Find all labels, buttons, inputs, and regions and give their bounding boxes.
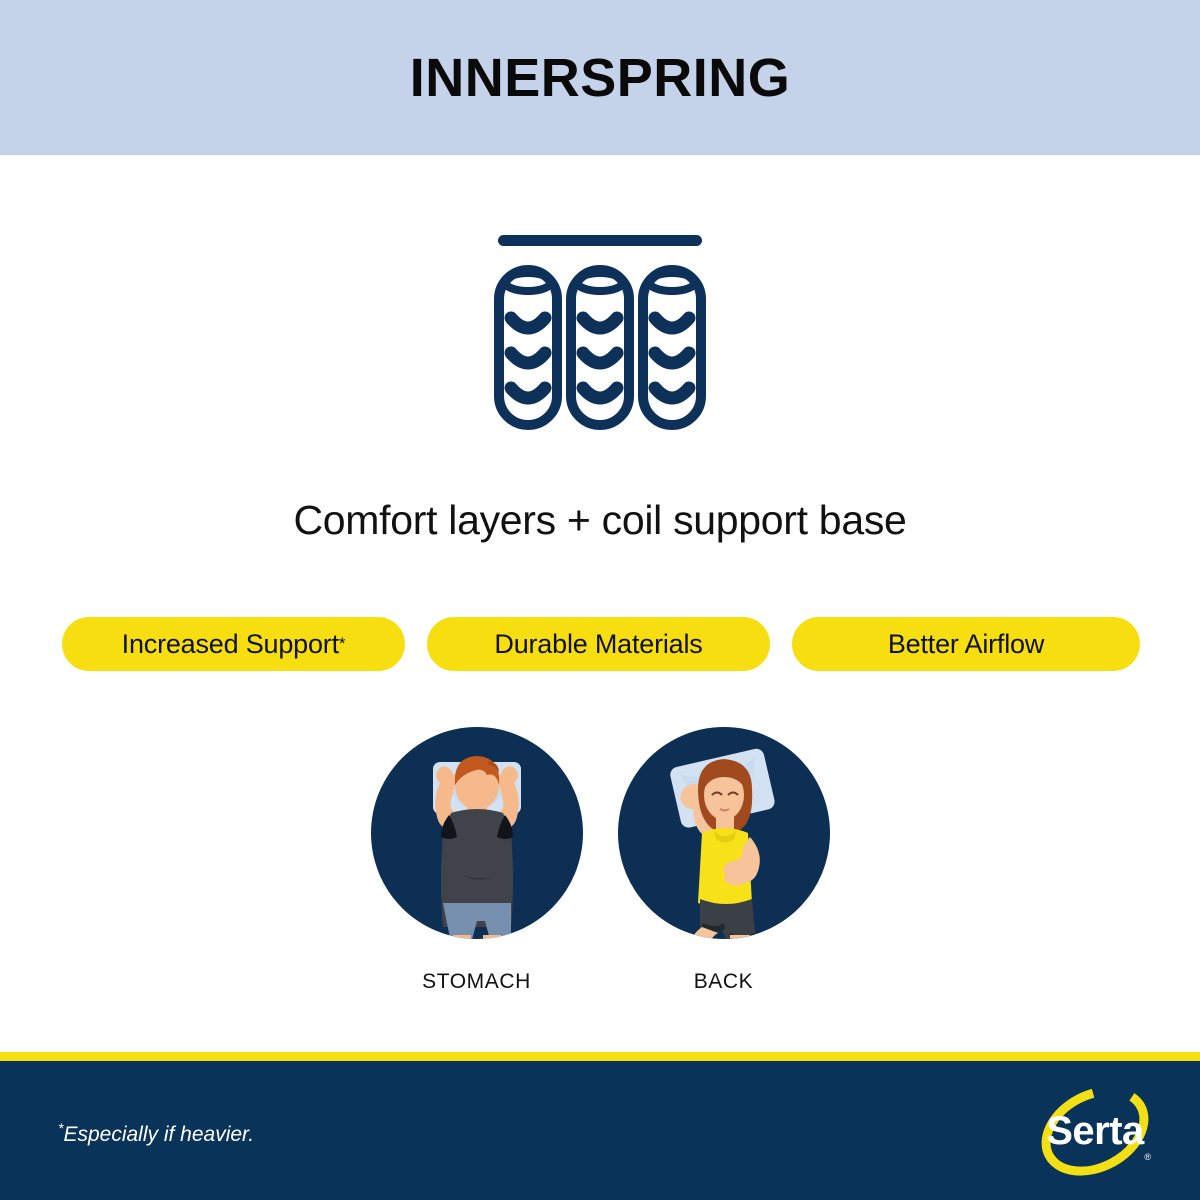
coil-top-bar [498,235,702,246]
sleep-position-circle-back [618,727,830,939]
person-sleeping-stomach-icon [371,727,583,939]
sleep-position-card-back[interactable]: BACK [618,727,830,994]
coil-cylinder-2 [571,270,629,425]
sleep-position-label-back: BACK [694,970,754,994]
coil-cylinder-1 [499,270,557,425]
footnote-label: Especially if heavier. [63,1123,254,1146]
footer: *Especially if heavier. Serta ® [0,1061,1200,1200]
person-sleeping-back-icon [618,727,830,939]
serta-logo[interactable]: Serta ® [1032,1083,1158,1179]
feature-pill-better-airflow[interactable]: Better Airflow [792,617,1140,671]
registered-trademark-icon: ® [1144,1152,1151,1162]
feature-pill-label: Increased Support [122,629,339,660]
feature-pill-increased-support[interactable]: Increased Support* [62,617,405,671]
coil-cylinder-3 [643,270,701,425]
sleep-positions-row: STOMACH [0,727,1200,994]
shorts [443,903,511,939]
legs [453,935,501,939]
sleep-position-card-stomach[interactable]: STOMACH [371,727,583,994]
footer-accent-stripe [0,1052,1200,1061]
serta-wordmark: Serta [1032,1083,1158,1179]
head [454,756,498,810]
feature-pill-label: Durable Materials [494,629,702,660]
footnote-text: *Especially if heavier. [58,1123,254,1147]
feature-pill-row: Increased Support* Durable Materials Bet… [62,617,1140,671]
hero-subtitle: Comfort layers + coil support base [0,497,1200,544]
sleep-position-label-stomach: STOMACH [422,970,531,994]
pocketed-coils-icon [480,225,720,455]
feature-pill-durable-materials[interactable]: Durable Materials [427,617,770,671]
header-band: INNERSPRING [0,0,1200,155]
hero-icon-container [0,225,1200,455]
sleep-position-circle-stomach [371,727,583,939]
feature-pill-label: Better Airflow [888,629,1044,660]
page-title: INNERSPRING [410,47,791,109]
